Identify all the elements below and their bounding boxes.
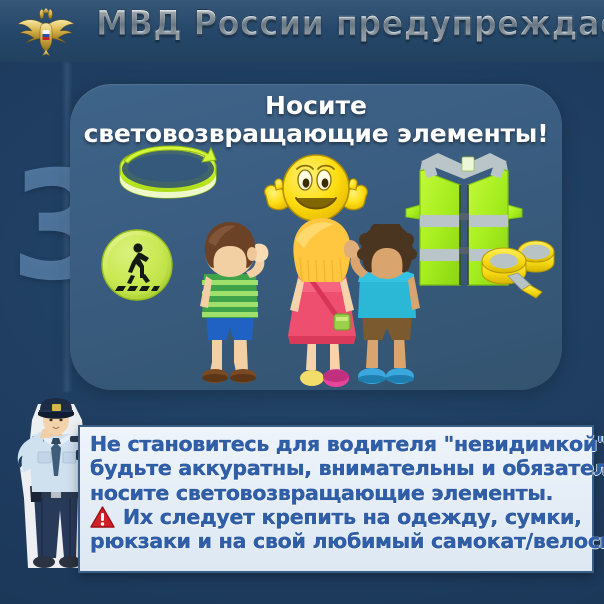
message-line-4: Их следует крепить на одежду, сумки, [123, 505, 582, 529]
header-bar: МВД России предупреждает [0, 0, 604, 62]
message-warning-line: Их следует крепить на одежду, сумки, [90, 505, 584, 529]
warning-triangle-icon [90, 506, 115, 529]
message-line-2: будьте аккуратны, внимательны и обязател… [90, 456, 584, 480]
panel-title-line1: Носите [70, 92, 562, 120]
poster-root: МВД России предупреждает 3 Носите светов… [0, 0, 604, 604]
main-illustration-panel: Носите световозвращающие элементы! [70, 84, 562, 390]
message-panel: Не становитесь для водителя "невидимкой"… [78, 425, 594, 573]
panel-title-line2: световозвращающие элементы! [70, 120, 562, 148]
message-line-5: рюкзаки и на свой любимый самокат/велоси… [90, 529, 584, 553]
message-line-3: носите световозвращающие элементы. [90, 481, 584, 505]
mvd-eagle-emblem-icon [14, 6, 78, 58]
message-line-1: Не становитесь для водителя "невидимкой"… [90, 432, 584, 456]
header-title: МВД России предупреждает [96, 4, 604, 44]
panel-title: Носите световозвращающие элементы! [70, 92, 562, 148]
